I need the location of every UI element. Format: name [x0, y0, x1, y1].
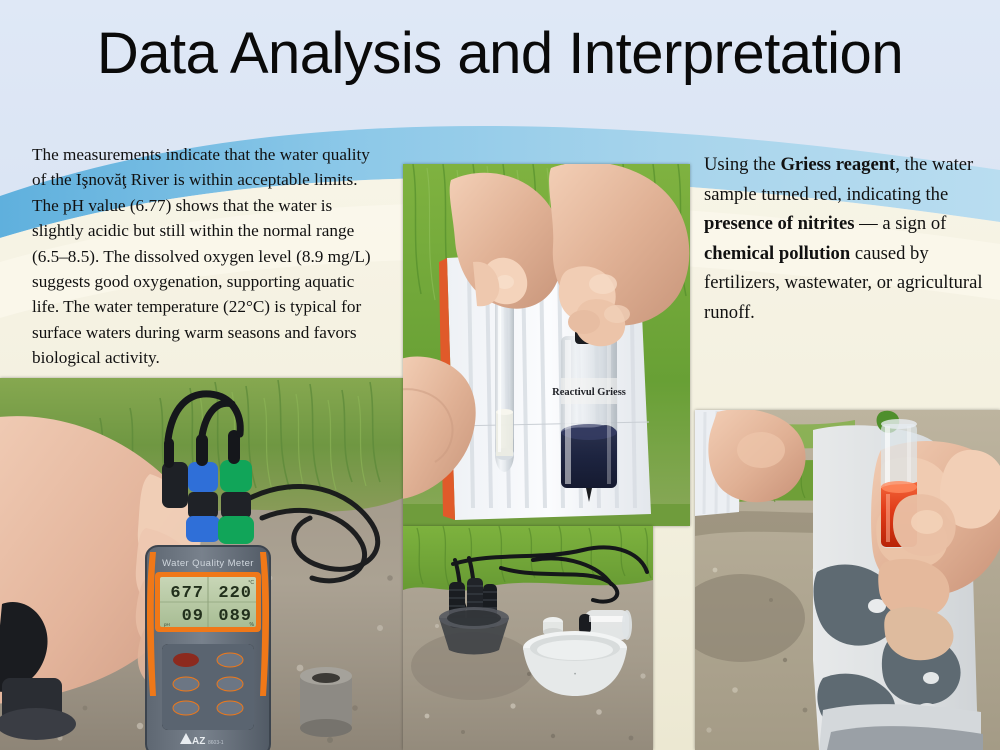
griess-text-segment-3: presence of nitrites — [704, 213, 854, 234]
svg-text:•: • — [574, 672, 576, 678]
griess-text-segment-0: Using the — [704, 154, 780, 175]
photo-sampling-site: • — [403, 526, 653, 750]
svg-text:%: % — [250, 622, 255, 628]
griess-text-block: Using the Griess reagent, the water samp… — [692, 140, 1000, 380]
svg-text:09: 09 — [182, 607, 204, 626]
svg-text:°C: °C — [248, 580, 254, 586]
photo-water-quality-meter: Water Quality Meter 677 220 09 089 °C % … — [0, 378, 403, 750]
svg-text:220: 220 — [218, 584, 252, 603]
photo-griess-reagent: Reactivul Griess — [403, 164, 690, 526]
griess-text-segment-1: Griess reagent — [780, 154, 895, 175]
svg-text:pH: pH — [164, 622, 170, 627]
griess-text-segment-5: chemical pollution — [704, 243, 850, 264]
svg-text:AZ: AZ — [192, 736, 205, 747]
measurements-text: The measurements indicate that the water… — [32, 145, 371, 367]
bottle-label: Reactivul Griess — [552, 387, 626, 398]
griess-text-segment-4: — a sign of — [854, 213, 946, 234]
svg-text:Water Quality Meter: Water Quality Meter — [162, 558, 254, 569]
measurements-text-block: The measurements indicate that the water… — [0, 134, 392, 378]
page-title: Data Analysis and Interpretation — [0, 18, 1000, 90]
griess-text: Using the Griess reagent, the water samp… — [704, 154, 983, 323]
photo-red-vial — [695, 410, 1000, 750]
slide-canvas: Data Analysis and Interpretation The mea… — [0, 0, 1000, 750]
svg-text:677: 677 — [170, 584, 204, 603]
svg-text:089: 089 — [218, 607, 252, 626]
svg-text:8603-1: 8603-1 — [208, 740, 224, 746]
